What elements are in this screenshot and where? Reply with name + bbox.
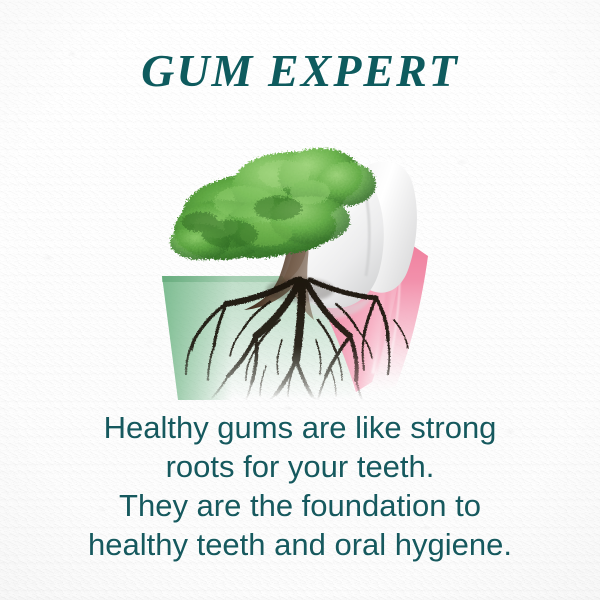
tagline-block: Healthy gums are like strong roots for y… (0, 408, 600, 564)
tagline-line-4: healthy teeth and oral hygiene. (0, 525, 600, 564)
tree-tooth-illustration (160, 130, 450, 400)
tagline-line-2: roots for your teeth. (0, 447, 600, 486)
tagline-line-1: Healthy gums are like strong (0, 408, 600, 447)
page-title: GUM EXPERT (0, 44, 600, 97)
tagline-line-3: They are the foundation to (0, 486, 600, 525)
poster-canvas: GUM EXPERT (0, 0, 600, 600)
